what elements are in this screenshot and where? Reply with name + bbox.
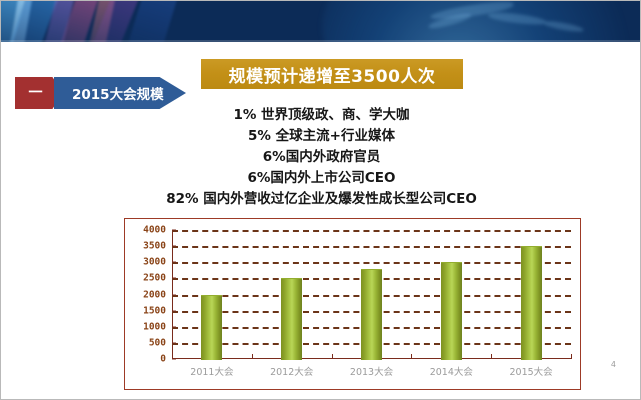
bullet-list: 1% 世界顶级政、商、学大咖 5% 全球主流+行业媒体 6%国内外政府官员 6%… [1,105,641,210]
x-axis-tick-mark [411,354,412,359]
y-axis-tick-label: 2500 [143,273,166,284]
chart-bar [361,269,382,360]
x-axis-tick-label: 2011大会 [190,364,233,378]
x-axis-tick-mark [252,354,253,359]
grid-line [172,230,571,232]
y-axis-tick-label: 2000 [143,289,166,300]
bullet-item: 6%国内外政府官员 [1,147,641,168]
chart-bar [281,278,302,360]
y-axis-tick-mark [172,326,176,327]
bullet-item: 82% 国内外营收过亿企业及爆发性成长型公司CEO [1,189,641,210]
y-axis-tick-label: 3000 [143,257,166,268]
slide-canvas: 一 2015大会规模 规模预计递增至3500人次 1% 世界顶级政、商、学大咖 … [0,0,641,400]
y-axis-tick-mark [172,310,176,311]
y-axis-tick-mark [172,294,176,295]
grid-line [172,262,571,264]
bullet-item: 1% 世界顶级政、商、学大咖 [1,105,641,126]
section-title-label: 2015大会规模 [72,83,164,103]
y-axis-tick-mark [172,230,176,231]
x-axis-tick-mark [571,354,572,359]
banner-bottom-edge [1,40,641,42]
grid-line [172,246,571,248]
x-axis-tick-mark [172,354,173,359]
y-axis-tick-label: 500 [149,337,166,348]
x-axis-tick-label: 2014大会 [430,364,473,378]
y-axis-tick-label: 3500 [143,241,166,252]
chart-bar [521,246,542,360]
bar-chart: 050010001500200025003000350040002011大会20… [124,218,581,390]
section-number-label: 一 [29,86,43,100]
x-axis-tick-mark [332,354,333,359]
headline-banner: 规模预计递增至3500人次 [201,59,463,89]
x-axis-tick-label: 2013大会 [350,364,393,378]
page-number: 4 [611,360,616,369]
y-axis-tick-mark [172,342,176,343]
x-axis-tick-label: 2015大会 [510,364,553,378]
y-axis-tick-mark [172,278,176,279]
headline-text: 规模预计递增至3500人次 [229,62,436,87]
chart-bar [201,295,222,361]
y-axis-tick-label: 0 [160,354,166,365]
y-axis-tick-label: 1000 [143,321,166,332]
x-axis-tick-label: 2012大会 [270,364,313,378]
y-axis-tick-label: 1500 [143,305,166,316]
y-axis-tick-label: 4000 [143,225,166,236]
chart-bar [441,262,462,360]
y-axis-tick-mark [172,246,176,247]
chart-plot-area: 050010001500200025003000350040002011大会20… [172,230,571,359]
header-banner [1,1,641,42]
bullet-item: 6%国内外上市公司CEO [1,168,641,189]
bullet-item: 5% 全球主流+行业媒体 [1,126,641,147]
y-axis-tick-mark [172,262,176,263]
x-axis-tick-mark [491,354,492,359]
